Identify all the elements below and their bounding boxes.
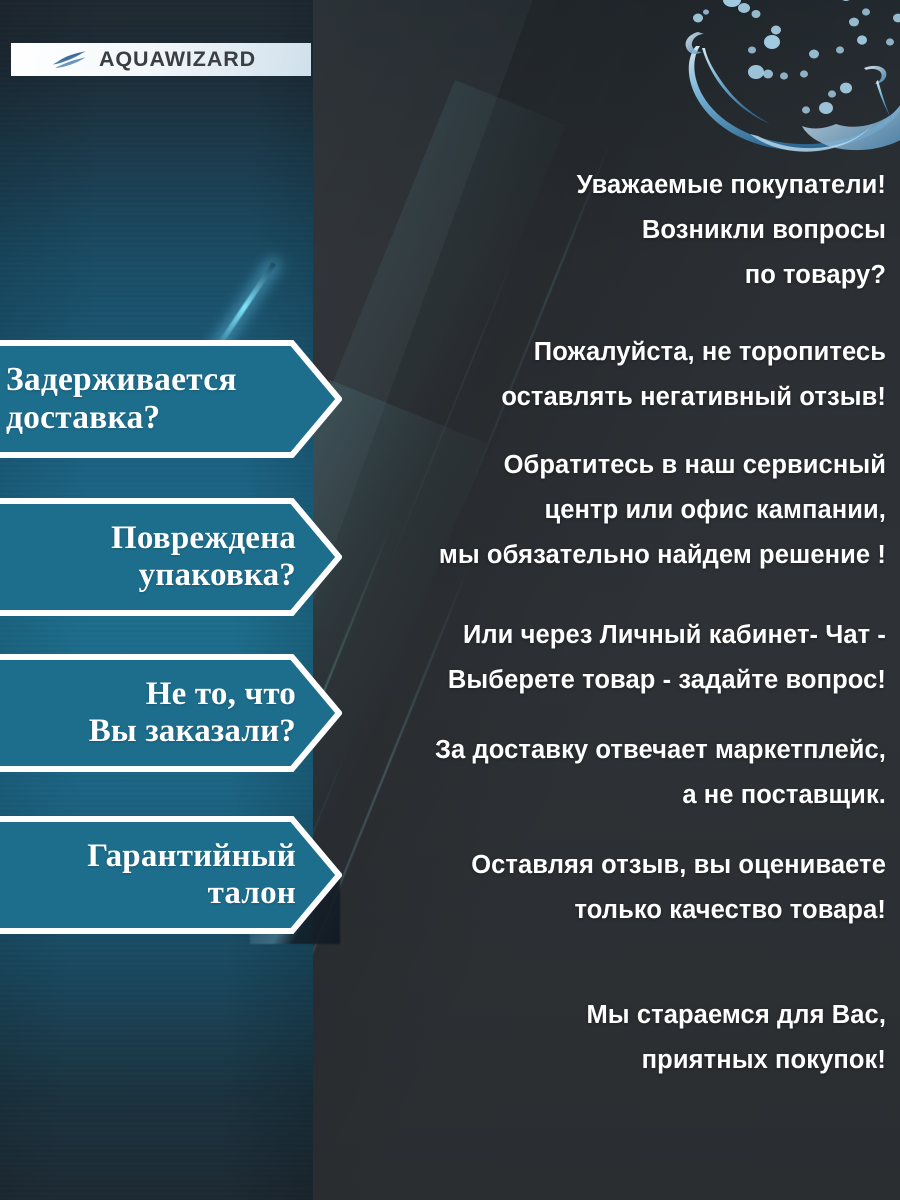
message-paragraph-review: Оставляя отзыв, вы оцениваете только кач… — [330, 843, 886, 933]
message-paragraph-chat: Или через Личный кабинет- Чат - Выберете… — [330, 613, 886, 703]
message-paragraph-delivery: За доставку отвечает маркетплейс, а не п… — [330, 728, 886, 818]
banner-packaging-damaged[interactable]: Поврежденаупаковка? — [0, 498, 342, 616]
message-paragraph-contact: Обратитесь в наш сервисный центр или офи… — [330, 443, 886, 578]
message-paragraph-no-rush: Пожалуйста, не торопитесь оставлять нега… — [330, 330, 886, 420]
banner-label: Задерживаетсядоставка? — [0, 361, 342, 436]
message-paragraph-closing: Мы стараемся для Вас, приятных покупок! — [330, 993, 886, 1083]
banner-wrong-item[interactable]: Не то, чтоВы заказали? — [0, 654, 342, 772]
water-wave-icon — [52, 50, 90, 70]
message-paragraph-greeting: Уважаемые покупатели! Возникли вопросы п… — [330, 163, 886, 298]
brand-logo-bar: AQUAWIZARD — [11, 43, 311, 76]
message-column: Уважаемые покупатели! Возникли вопросы п… — [330, 0, 886, 1200]
banner-label: Гарантийныйталон — [0, 838, 342, 912]
banner-label: Поврежденаупаковка? — [0, 520, 342, 594]
brand-logo-text: AQUAWIZARD — [99, 47, 256, 72]
promo-card: AQUAWIZARD Задерживаетсядоставка? Повреж… — [0, 0, 900, 1200]
banner-delivery-delayed[interactable]: Задерживаетсядоставка? — [0, 340, 342, 458]
banner-label: Не то, чтоВы заказали? — [0, 676, 342, 750]
banner-warranty-card[interactable]: Гарантийныйталон — [0, 816, 342, 934]
